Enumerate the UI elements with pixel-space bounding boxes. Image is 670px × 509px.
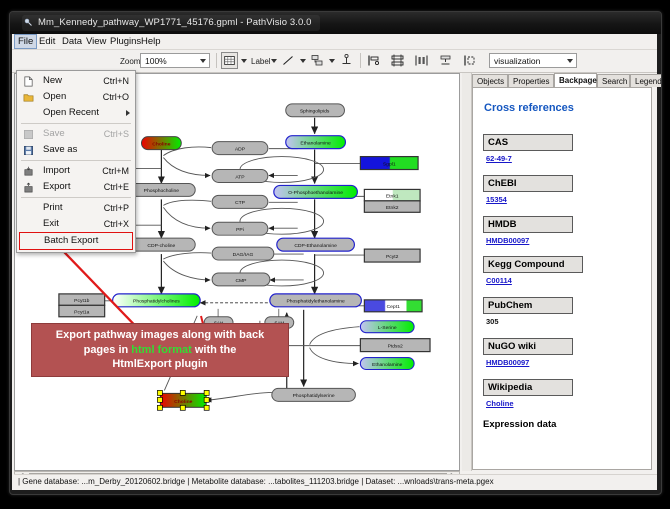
- svg-text:L-Serine: L-Serine: [378, 325, 397, 331]
- xref-link-nugo[interactable]: HMDB00097: [486, 358, 529, 367]
- screenshot-root: Mm_Kennedy_pathway_WP1771_45176.gpml - P…: [0, 0, 670, 509]
- zoom-value: 100%: [145, 56, 167, 66]
- svg-text:Cept1: Cept1: [387, 304, 400, 310]
- chevron-down-icon-2: [567, 59, 573, 63]
- svg-text:Sphingolipids: Sphingolipids: [300, 109, 330, 115]
- menu-item-save-as[interactable]: Save as: [17, 142, 135, 158]
- svg-text:CDP-Ethanolamine: CDP-Ethanolamine: [294, 243, 337, 249]
- menu-item-exit-accel: Ctrl+X: [104, 216, 129, 232]
- cross-references-heading: Cross references: [484, 102, 574, 114]
- svg-text:DAG/IAG: DAG/IAG: [233, 252, 254, 258]
- node-choline-selected[interactable]: Choline: [157, 390, 209, 410]
- anchor-tool-button[interactable]: [338, 52, 355, 69]
- svg-text:PPi: PPi: [236, 227, 244, 233]
- node-o-phosphoethanolamine[interactable]: O-Phosphoethanolamine: [274, 185, 358, 198]
- save-as-disk-icon: [23, 145, 34, 156]
- node-cmp[interactable]: CMP: [212, 273, 270, 286]
- menu-item-batch-export-label: Batch Export: [44, 235, 98, 246]
- dock-rail[interactable]: [462, 73, 472, 471]
- grid-dropdown-icon[interactable]: [241, 59, 247, 63]
- node-cdp-ethanolamine[interactable]: CDP-Ethanolamine: [277, 238, 355, 251]
- visualization-value: visualization: [494, 56, 540, 66]
- annotation-highlight: html format: [131, 344, 192, 356]
- stack-icon: [437, 52, 454, 69]
- annotation-line-2-pre: pages in: [84, 344, 132, 356]
- node-etnk2[interactable]: Etnk2: [364, 201, 420, 212]
- expression-data-heading: Expression data: [483, 419, 556, 430]
- menu-item-open-accel: Ctrl+O: [103, 89, 129, 105]
- backpage-panel: Cross references CAS 62-49-7 ChEBI 15354…: [472, 87, 652, 470]
- menu-view[interactable]: View: [83, 35, 109, 48]
- xref-link-wikipedia[interactable]: Choline: [486, 399, 514, 408]
- align-center-icon: [389, 52, 406, 69]
- annotation-line-3: HtmlExport plugin: [56, 357, 264, 372]
- line-dropdown-icon[interactable]: [300, 59, 306, 63]
- tab-search[interactable]: Search: [597, 74, 630, 87]
- open-folder-icon: [23, 92, 34, 103]
- label-dropdown-icon[interactable]: [271, 59, 277, 63]
- node-ptdss2[interactable]: Ptdss2: [360, 339, 430, 352]
- stack-button[interactable]: [437, 52, 454, 69]
- node-ethanolamine-2[interactable]: Ethanolamine: [360, 358, 414, 370]
- xref-header-chebi: ChEBI: [483, 175, 573, 192]
- distribute-button[interactable]: [413, 52, 430, 69]
- xref-header-kegg: Kegg Compound: [483, 256, 583, 273]
- application-window: Mm_Kennedy_pathway_WP1771_45176.gpml - P…: [9, 11, 662, 495]
- node-adp[interactable]: ADP: [212, 142, 268, 155]
- menu-item-exit-label: Exit: [43, 218, 59, 229]
- xref-header-nugo: NuGO wiki: [483, 338, 573, 355]
- menu-item-print[interactable]: Print Ctrl+P: [17, 200, 135, 216]
- svg-text:CTP: CTP: [235, 200, 246, 206]
- xref-link-kegg[interactable]: C00114: [486, 276, 512, 285]
- node-phosphocholine[interactable]: Phosphocholine: [128, 183, 196, 196]
- xref-value-pubchem: 305: [486, 317, 499, 326]
- svg-text:Ptdss2: Ptdss2: [388, 343, 403, 349]
- chevron-down-icon: [200, 59, 206, 63]
- xref-header-hmdb: HMDB: [483, 216, 573, 233]
- menu-item-batch-export[interactable]: Batch Export: [19, 232, 133, 250]
- menu-item-export[interactable]: Export Ctrl+E: [17, 179, 135, 195]
- submenu-arrow-icon: [126, 110, 130, 116]
- distribute-icon: [413, 52, 430, 69]
- svg-text:Ethanolamine: Ethanolamine: [300, 140, 331, 146]
- menu-separator-2: [21, 160, 131, 161]
- menu-item-export-label: Export: [43, 181, 70, 192]
- menu-item-new-label: New: [43, 75, 62, 86]
- node-phosphatidylethanolamine[interactable]: Phosphatidylethanolamine: [270, 294, 362, 307]
- window-title: Mm_Kennedy_pathway_WP1771_45176.gpml - P…: [22, 15, 320, 31]
- xref-link-hmdb[interactable]: HMDB00097: [486, 236, 529, 245]
- svg-text:Ethanolamine: Ethanolamine: [372, 362, 403, 368]
- tab-backpage[interactable]: Backpage: [554, 73, 597, 87]
- menu-help[interactable]: Help: [138, 35, 164, 48]
- svg-text:Choline: Choline: [152, 141, 170, 147]
- svg-text:Etnk1: Etnk1: [386, 193, 399, 199]
- menu-item-print-accel: Ctrl+P: [104, 200, 129, 216]
- xref-link-chebi[interactable]: 15354: [486, 195, 507, 204]
- menu-data[interactable]: Data: [59, 35, 85, 48]
- svg-text:Phosphatidylethanolamine: Phosphatidylethanolamine: [286, 299, 345, 305]
- statusbar: | Gene database: ...m_Derby_20120602.bri…: [14, 474, 657, 488]
- svg-text:Pcyt2: Pcyt2: [386, 254, 399, 260]
- node-ethanolamine[interactable]: Ethanolamine: [286, 136, 346, 149]
- annotation-line-1: Export pathway images along with back: [56, 328, 264, 343]
- group-icon: [461, 52, 478, 69]
- tab-legend[interactable]: Legend: [630, 74, 662, 87]
- menu-item-save-as-label: Save as: [43, 144, 77, 155]
- node-l-serine[interactable]: L-Serine: [360, 321, 414, 333]
- align-center-button[interactable]: [389, 52, 406, 69]
- menu-file[interactable]: File: [14, 34, 37, 49]
- menu-item-open-recent-label: Open Recent: [43, 107, 99, 118]
- align-left-icon: [365, 52, 382, 69]
- file-menu-popup[interactable]: New Ctrl+N Open Ctrl+O Open Recent: [16, 70, 136, 253]
- svg-text:Phosphocholine: Phosphocholine: [144, 188, 180, 194]
- grid-button[interactable]: [221, 52, 238, 69]
- svg-text:Etnk2: Etnk2: [386, 205, 399, 211]
- menu-item-import-accel: Ctrl+M: [102, 163, 129, 179]
- tab-objects[interactable]: Objects: [472, 74, 508, 87]
- svg-text:Choline: Choline: [174, 399, 192, 405]
- line-tool-button[interactable]: [280, 52, 297, 69]
- group-button[interactable]: [461, 52, 478, 69]
- menu-item-save: Save Ctrl+S: [17, 126, 135, 142]
- menu-item-save-accel: Ctrl+S: [104, 126, 129, 142]
- window-titlebar: Mm_Kennedy_pathway_WP1771_45176.gpml - P…: [10, 12, 661, 34]
- menu-item-open-recent[interactable]: Open Recent: [17, 105, 135, 121]
- svg-text:ATP: ATP: [235, 174, 245, 180]
- export-icon: [23, 182, 34, 193]
- menu-separator-3: [21, 197, 131, 198]
- interaction-dropdown-icon[interactable]: [329, 59, 335, 63]
- node-etnk1[interactable]: Etnk1: [364, 189, 420, 200]
- svg-text:CMP: CMP: [235, 278, 247, 284]
- import-icon: [23, 166, 34, 177]
- toolbar-separator-2: [360, 53, 361, 68]
- new-document-icon: [23, 76, 34, 87]
- svg-text:Phosphatidylserine: Phosphatidylserine: [293, 393, 335, 399]
- menu-edit[interactable]: Edit: [36, 35, 58, 48]
- xref-link-cas[interactable]: 62-49-7: [486, 154, 512, 163]
- svg-text:O-Phosphoethanolamine: O-Phosphoethanolamine: [288, 190, 343, 196]
- node-phosphatidylserine[interactable]: Phosphatidylserine: [272, 388, 356, 401]
- node-pcyt2[interactable]: Pcyt2: [364, 249, 420, 262]
- interaction-icon: [309, 52, 326, 69]
- node-sgpl1[interactable]: Sgpl1: [360, 157, 418, 170]
- menu-separator-1: [21, 123, 131, 124]
- svg-text:ADP: ADP: [235, 146, 246, 152]
- anchor-icon: [338, 52, 355, 69]
- save-disk-icon: [23, 129, 34, 140]
- menubar: File Edit Data View Plugins Help: [12, 34, 657, 50]
- visualization-combobox[interactable]: visualization: [489, 53, 577, 68]
- line-icon: [280, 52, 297, 69]
- menu-item-new-accel: Ctrl+N: [103, 73, 129, 89]
- svg-text:Sgpl1: Sgpl1: [383, 161, 396, 167]
- node-sphingolipids[interactable]: Sphingolipids: [286, 104, 345, 117]
- node-cept1[interactable]: Cept1: [364, 300, 422, 312]
- align-left-button[interactable]: [365, 52, 382, 69]
- xref-header-cas: CAS: [483, 134, 573, 151]
- menu-item-save-label: Save: [43, 128, 65, 139]
- label-button[interactable]: Label: [251, 57, 271, 66]
- toolbar-separator: [216, 53, 217, 68]
- node-atp[interactable]: ATP: [212, 170, 268, 183]
- menu-item-exit[interactable]: Exit Ctrl+X: [17, 216, 135, 232]
- xref-header-pubchem: PubChem: [483, 297, 573, 314]
- annotation-line-2: pages in html format with the: [56, 343, 264, 358]
- menu-item-import[interactable]: Import Ctrl+M: [17, 163, 135, 179]
- right-dock: Objects Properties Backpage Search Legen…: [462, 73, 655, 471]
- node-ppi[interactable]: PPi: [212, 222, 268, 235]
- xref-header-wikipedia: Wikipedia: [483, 379, 573, 396]
- menu-item-new[interactable]: New Ctrl+N: [17, 73, 135, 89]
- node-dag[interactable]: DAG/IAG: [212, 247, 274, 260]
- menu-item-export-accel: Ctrl+E: [104, 179, 129, 195]
- app-client-area: File Edit Data View Plugins Help Zoom: 1…: [12, 34, 657, 490]
- tab-properties[interactable]: Properties: [508, 74, 554, 87]
- node-choline-top[interactable]: Choline: [141, 137, 181, 150]
- annotation-callout: Export pathway images along with back pa…: [31, 323, 289, 377]
- node-ctp[interactable]: CTP: [212, 195, 268, 208]
- menu-item-open[interactable]: Open Ctrl+O: [17, 89, 135, 105]
- annotation-line-2-post: with the: [192, 344, 237, 356]
- interaction-tool-button[interactable]: [309, 52, 326, 69]
- grid-icon: [222, 53, 237, 68]
- zoom-combobox[interactable]: 100%: [140, 53, 210, 68]
- menu-item-print-label: Print: [43, 202, 63, 213]
- menu-item-import-label: Import: [43, 165, 70, 176]
- menu-item-open-label: Open: [43, 91, 66, 102]
